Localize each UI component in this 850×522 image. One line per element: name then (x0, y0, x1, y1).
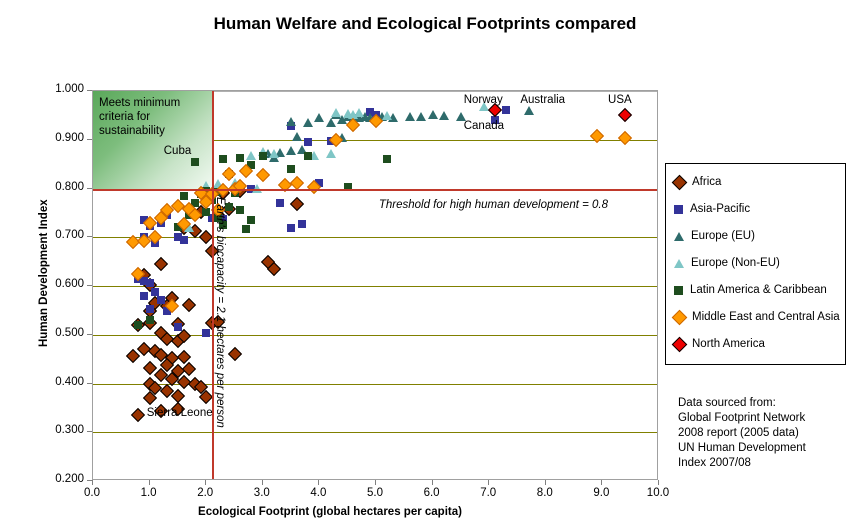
data-point-europe-non-eu (246, 151, 256, 160)
data-point-asia-pacific (180, 236, 188, 244)
data-point-latin-america-caribbean (304, 152, 312, 160)
source-note: Data sourced from: Global Footprint Netw… (678, 396, 850, 471)
x-tick-label: 8.0 (525, 487, 565, 499)
data-point-africa (131, 408, 145, 422)
x-tick-mark (262, 480, 263, 485)
y-tick-label: 0.900 (38, 132, 84, 144)
data-point-europe-eu (416, 112, 426, 121)
legend-item-north-america[interactable]: North America (674, 335, 765, 353)
legend-item-middle-east-and-central-asia[interactable]: Middle East and Central Asia (674, 308, 840, 326)
data-point-middle-east-and-central-asia (590, 129, 604, 143)
x-tick-label: 10.0 (638, 487, 678, 499)
data-point-asia-pacific (157, 296, 165, 304)
y-tick-label: 0.800 (38, 181, 84, 193)
data-point-europe-eu (314, 113, 324, 122)
x-tick-label: 5.0 (355, 487, 395, 499)
x-tick-label: 6.0 (412, 487, 452, 499)
data-point-asia-pacific (174, 323, 182, 331)
data-point-asia-pacific (298, 220, 306, 228)
annotation-norway: Norway (464, 94, 503, 106)
legend-item-latin-america-caribbean[interactable]: Latin America & Caribbean (674, 281, 827, 299)
data-point-europe-eu (428, 110, 438, 119)
y-tick-label: 0.300 (38, 424, 84, 436)
y-tick-label: 0.200 (38, 473, 84, 485)
y-axis-title: Human Development Index (38, 199, 50, 347)
x-tick-label: 0.0 (72, 487, 112, 499)
x-tick-label: 4.0 (298, 487, 338, 499)
x-tick-mark (149, 480, 150, 485)
data-point-europe-eu (286, 146, 296, 155)
y-tick-label: 0.500 (38, 327, 84, 339)
x-tick-label: 9.0 (581, 487, 621, 499)
x-tick-mark (488, 480, 489, 485)
annotation-usa: USA (608, 94, 632, 106)
legend-item-label: Europe (EU) (691, 230, 755, 242)
data-point-asia-pacific (146, 279, 154, 287)
x-tick-mark (432, 480, 433, 485)
data-point-africa (182, 298, 196, 312)
data-point-middle-east-and-central-asia (618, 131, 632, 145)
annotation-threshold: Threshold for high human development = 0… (379, 199, 608, 211)
data-point-asia-pacific (502, 106, 510, 114)
legend-diamond-icon (672, 174, 688, 190)
annotation-sierra-leone: Sierra Leone (147, 407, 213, 419)
legend-item-label: Europe (Non-EU) (691, 257, 780, 269)
data-point-asia-pacific (202, 329, 210, 337)
data-point-latin-america-caribbean (236, 154, 244, 162)
data-point-latin-america-caribbean (287, 165, 295, 173)
data-point-europe-non-eu (382, 111, 392, 120)
annotation-australia: Australia (520, 94, 565, 106)
data-point-africa (227, 347, 241, 361)
data-point-latin-america-caribbean (219, 155, 227, 163)
data-point-europe-eu (303, 118, 313, 127)
legend-triangle-icon (674, 232, 684, 241)
legend-item-asia-pacific[interactable]: Asia-Pacific (674, 200, 750, 218)
legend-item-label: Africa (692, 176, 721, 188)
annotation-biocapacity: Earth's biocapacity = 2.1 hectares per p… (214, 197, 226, 428)
gridline-y-0.300 (93, 432, 657, 433)
data-point-europe-eu (524, 106, 534, 115)
data-point-latin-america-caribbean (146, 316, 154, 324)
legend-item-europe-eu[interactable]: Europe (EU) (674, 227, 755, 245)
x-tick-label: 7.0 (468, 487, 508, 499)
data-point-africa (154, 256, 168, 270)
y-tick-label: 1.000 (38, 83, 84, 95)
legend-item-africa[interactable]: Africa (674, 173, 721, 191)
x-tick-mark (658, 480, 659, 485)
data-point-latin-america-caribbean (247, 216, 255, 224)
legend-diamond-icon (672, 309, 688, 325)
sustainability-region-label: Meets minimum criteria for sustainabilit… (99, 96, 180, 138)
data-point-africa (290, 197, 304, 211)
x-tick-label: 1.0 (129, 487, 169, 499)
data-point-europe-eu (439, 111, 449, 120)
legend-item-europe-non-eu[interactable]: Europe (Non-EU) (674, 254, 780, 272)
threshold-line-hdi (93, 189, 657, 191)
data-point-latin-america-caribbean (134, 321, 142, 329)
data-point-europe-non-eu (269, 149, 279, 158)
x-tick-label: 2.0 (185, 487, 225, 499)
annotation-canada: Canada (464, 120, 504, 132)
chart-title: Human Welfare and Ecological Footprints … (0, 14, 850, 34)
plot-area: Meets minimum criteria for sustainabilit… (92, 90, 658, 480)
legend-triangle-icon (674, 259, 684, 268)
x-tick-mark (92, 480, 93, 485)
plot-inner: Meets minimum criteria for sustainabilit… (93, 91, 657, 479)
y-tick-label: 0.700 (38, 229, 84, 241)
legend-diamond-icon (672, 336, 688, 352)
x-tick-mark (601, 480, 602, 485)
data-point-europe-eu (326, 118, 336, 127)
data-point-africa (182, 362, 196, 376)
y-tick-label: 0.400 (38, 376, 84, 388)
data-point-europe-non-eu (326, 149, 336, 158)
legend-square-icon (674, 205, 683, 214)
legend-item-label: Middle East and Central Asia (692, 311, 840, 323)
data-point-asia-pacific (146, 305, 154, 313)
gridline-y-0.600 (93, 286, 657, 287)
data-point-asia-pacific (140, 292, 148, 300)
legend-box: AfricaAsia-PacificEurope (EU)Europe (Non… (665, 163, 846, 365)
data-point-latin-america-caribbean (236, 206, 244, 214)
data-point-asia-pacific (151, 288, 159, 296)
data-point-latin-america-caribbean (180, 192, 188, 200)
y-tick-label: 0.600 (38, 278, 84, 290)
data-point-north-america (618, 108, 632, 122)
data-point-asia-pacific (287, 224, 295, 232)
data-point-latin-america-caribbean (383, 155, 391, 163)
legend-item-label: Asia-Pacific (690, 203, 750, 215)
chart-container: Human Welfare and Ecological Footprints … (0, 0, 850, 522)
data-point-africa (126, 349, 140, 363)
data-point-europe-eu (405, 112, 415, 121)
legend-item-label: Latin America & Caribbean (690, 284, 827, 296)
legend-square-icon (674, 286, 683, 295)
data-point-europe-eu (292, 132, 302, 141)
x-tick-mark (205, 480, 206, 485)
x-tick-mark (318, 480, 319, 485)
x-tick-label: 3.0 (242, 487, 282, 499)
data-point-latin-america-caribbean (225, 203, 233, 211)
data-point-latin-america-caribbean (191, 158, 199, 166)
data-point-europe-non-eu (331, 108, 341, 117)
data-point-latin-america-caribbean (202, 208, 210, 216)
x-tick-mark (545, 480, 546, 485)
data-point-europe-eu (286, 117, 296, 126)
data-point-asia-pacific (276, 199, 284, 207)
data-point-latin-america-caribbean (242, 225, 250, 233)
data-point-middle-east-and-central-asia (256, 168, 270, 182)
data-point-latin-america-caribbean (259, 152, 267, 160)
x-axis-title: Ecological Footprint (global hectares pe… (0, 506, 755, 518)
legend-item-label: North America (692, 338, 765, 350)
annotation-cuba: Cuba (164, 145, 192, 157)
x-tick-mark (375, 480, 376, 485)
